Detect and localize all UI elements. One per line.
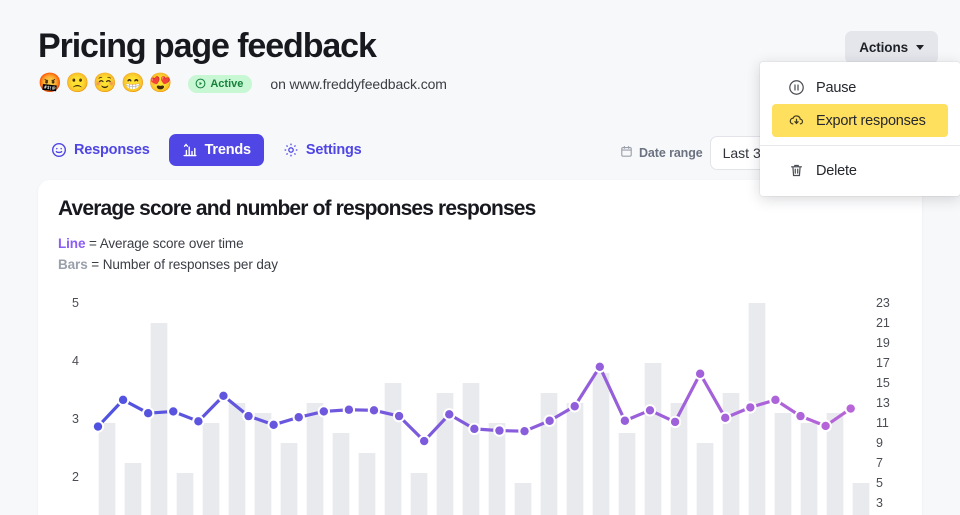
chart-bar	[801, 423, 818, 515]
chart-svg	[38, 180, 922, 515]
chart-point	[571, 402, 579, 410]
y-axis-right-tick: 11	[876, 416, 889, 430]
menu-divider	[760, 145, 960, 146]
chart-bar	[775, 413, 792, 515]
chart-point	[721, 414, 729, 422]
date-range-label-text: Date range	[639, 146, 703, 160]
chart-point	[821, 422, 829, 430]
chart-bar	[489, 423, 506, 515]
chart-point	[295, 413, 303, 421]
chart-bar	[359, 453, 376, 515]
tab-settings[interactable]: Settings	[270, 134, 375, 166]
y-axis-right-tick: 3	[876, 496, 883, 510]
menu-item-delete-label: Delete	[816, 163, 857, 179]
chart-point	[420, 437, 428, 445]
chart-point	[746, 403, 754, 411]
menu-item-export-responses[interactable]: Export responses	[772, 104, 948, 137]
y-axis-right-tick: 23	[876, 296, 890, 310]
gear-icon	[283, 142, 299, 158]
chart-bar	[541, 393, 558, 515]
chart-point	[94, 422, 102, 430]
chart-bar	[125, 463, 142, 515]
chart-point	[370, 406, 378, 414]
smiley-icon	[51, 142, 67, 158]
y-axis-left-tick: 5	[72, 296, 79, 310]
actions-button-label: Actions	[859, 40, 908, 55]
chart-point	[520, 427, 528, 435]
chart-bar	[385, 383, 402, 515]
menu-item-pause-label: Pause	[816, 80, 856, 96]
chart-point	[194, 417, 202, 425]
tab-responses-label: Responses	[74, 142, 150, 158]
chart-bar	[307, 403, 324, 515]
site-domain-text: on www.freddyfeedback.com	[270, 76, 446, 92]
chart-point	[269, 421, 277, 429]
chart-point	[244, 412, 252, 420]
emoji-heart-eyes-icon: 😍	[149, 74, 173, 93]
emoji-angry-icon: 🤬	[38, 74, 62, 93]
chart-point	[696, 370, 704, 378]
chart-point	[119, 396, 127, 404]
trends-chart-card: Average score and number of responses re…	[38, 180, 922, 515]
y-axis-left-tick: 4	[72, 354, 79, 368]
chart-bar	[203, 423, 220, 515]
tab-responses[interactable]: Responses	[38, 134, 163, 166]
emoji-rating-set: 🤬 🙁 ☺️ 😁 😍	[38, 74, 172, 93]
chart-point	[445, 410, 453, 418]
cloud-download-icon	[788, 112, 805, 129]
chart-bar	[229, 403, 246, 515]
menu-item-pause[interactable]: Pause	[772, 71, 948, 104]
chart-point	[596, 363, 604, 371]
tab-settings-label: Settings	[306, 142, 362, 158]
y-axis-left-tick: 3	[72, 412, 79, 426]
chart-plot-area: 5432232119171513119753	[38, 180, 922, 515]
chart-point	[219, 392, 227, 400]
chart-bar	[515, 483, 532, 515]
menu-item-export-label: Export responses	[816, 113, 926, 129]
app-page: Pricing page feedback 🤬 🙁 ☺️ 😁 😍 Active …	[0, 0, 960, 515]
emoji-grin-icon: 😁	[121, 74, 145, 93]
chart-point	[470, 425, 478, 433]
y-axis-right-tick: 19	[876, 336, 890, 350]
chart-point	[320, 407, 328, 415]
chart-point	[847, 404, 855, 412]
chart-point	[395, 412, 403, 420]
y-axis-right-tick: 21	[876, 316, 890, 330]
date-range-label: Date range	[620, 145, 703, 161]
header-meta-row: 🤬 🙁 ☺️ 😁 😍 Active on www.freddyfeedback.…	[38, 74, 447, 93]
chart-point	[144, 409, 152, 417]
chart-bar	[619, 433, 636, 515]
status-badge-label: Active	[210, 78, 243, 90]
y-axis-right-tick: 9	[876, 436, 883, 450]
chart-bar	[593, 373, 610, 515]
chart-point	[646, 406, 654, 414]
play-circle-icon	[195, 78, 206, 89]
chart-bar	[567, 403, 584, 515]
status-badge: Active	[188, 75, 252, 93]
trash-icon	[788, 162, 805, 179]
chart-point	[621, 417, 629, 425]
menu-item-delete[interactable]: Delete	[772, 154, 948, 187]
chart-point	[771, 396, 779, 404]
emoji-frown-icon: 🙁	[66, 74, 90, 93]
chart-bar	[333, 433, 350, 515]
chart-point	[345, 406, 353, 414]
chart-point	[169, 407, 177, 415]
chart-bar	[281, 443, 298, 515]
chart-bar	[99, 423, 116, 515]
chevron-down-icon	[916, 45, 924, 50]
main-tabs: Responses Trends	[38, 134, 375, 166]
y-axis-right-tick: 7	[876, 456, 883, 470]
chart-bar	[151, 323, 168, 515]
page-title: Pricing page feedback	[38, 28, 376, 65]
chart-point	[671, 418, 679, 426]
chart-point	[796, 412, 804, 420]
pause-circle-icon	[788, 79, 805, 96]
y-axis-right-tick: 5	[876, 476, 883, 490]
chart-bar	[645, 363, 662, 515]
bar-chart-icon	[182, 142, 198, 158]
chart-bar	[411, 473, 428, 515]
chart-bar	[463, 383, 480, 515]
tab-trends-label: Trends	[205, 142, 251, 158]
actions-button[interactable]: Actions	[845, 31, 938, 64]
emoji-smile-icon: ☺️	[93, 74, 117, 93]
tab-trends[interactable]: Trends	[169, 134, 264, 166]
y-axis-right-tick: 13	[876, 396, 890, 410]
y-axis-right-tick: 17	[876, 356, 890, 370]
chart-point	[495, 426, 503, 434]
chart-point	[545, 417, 553, 425]
chart-bar	[853, 483, 870, 515]
calendar-icon	[620, 145, 633, 161]
y-axis-right-tick: 15	[876, 376, 890, 390]
chart-bar	[697, 443, 714, 515]
actions-menu: Pause Export responses Delete	[760, 62, 960, 196]
y-axis-left-tick: 2	[72, 470, 79, 484]
chart-bar	[177, 473, 194, 515]
